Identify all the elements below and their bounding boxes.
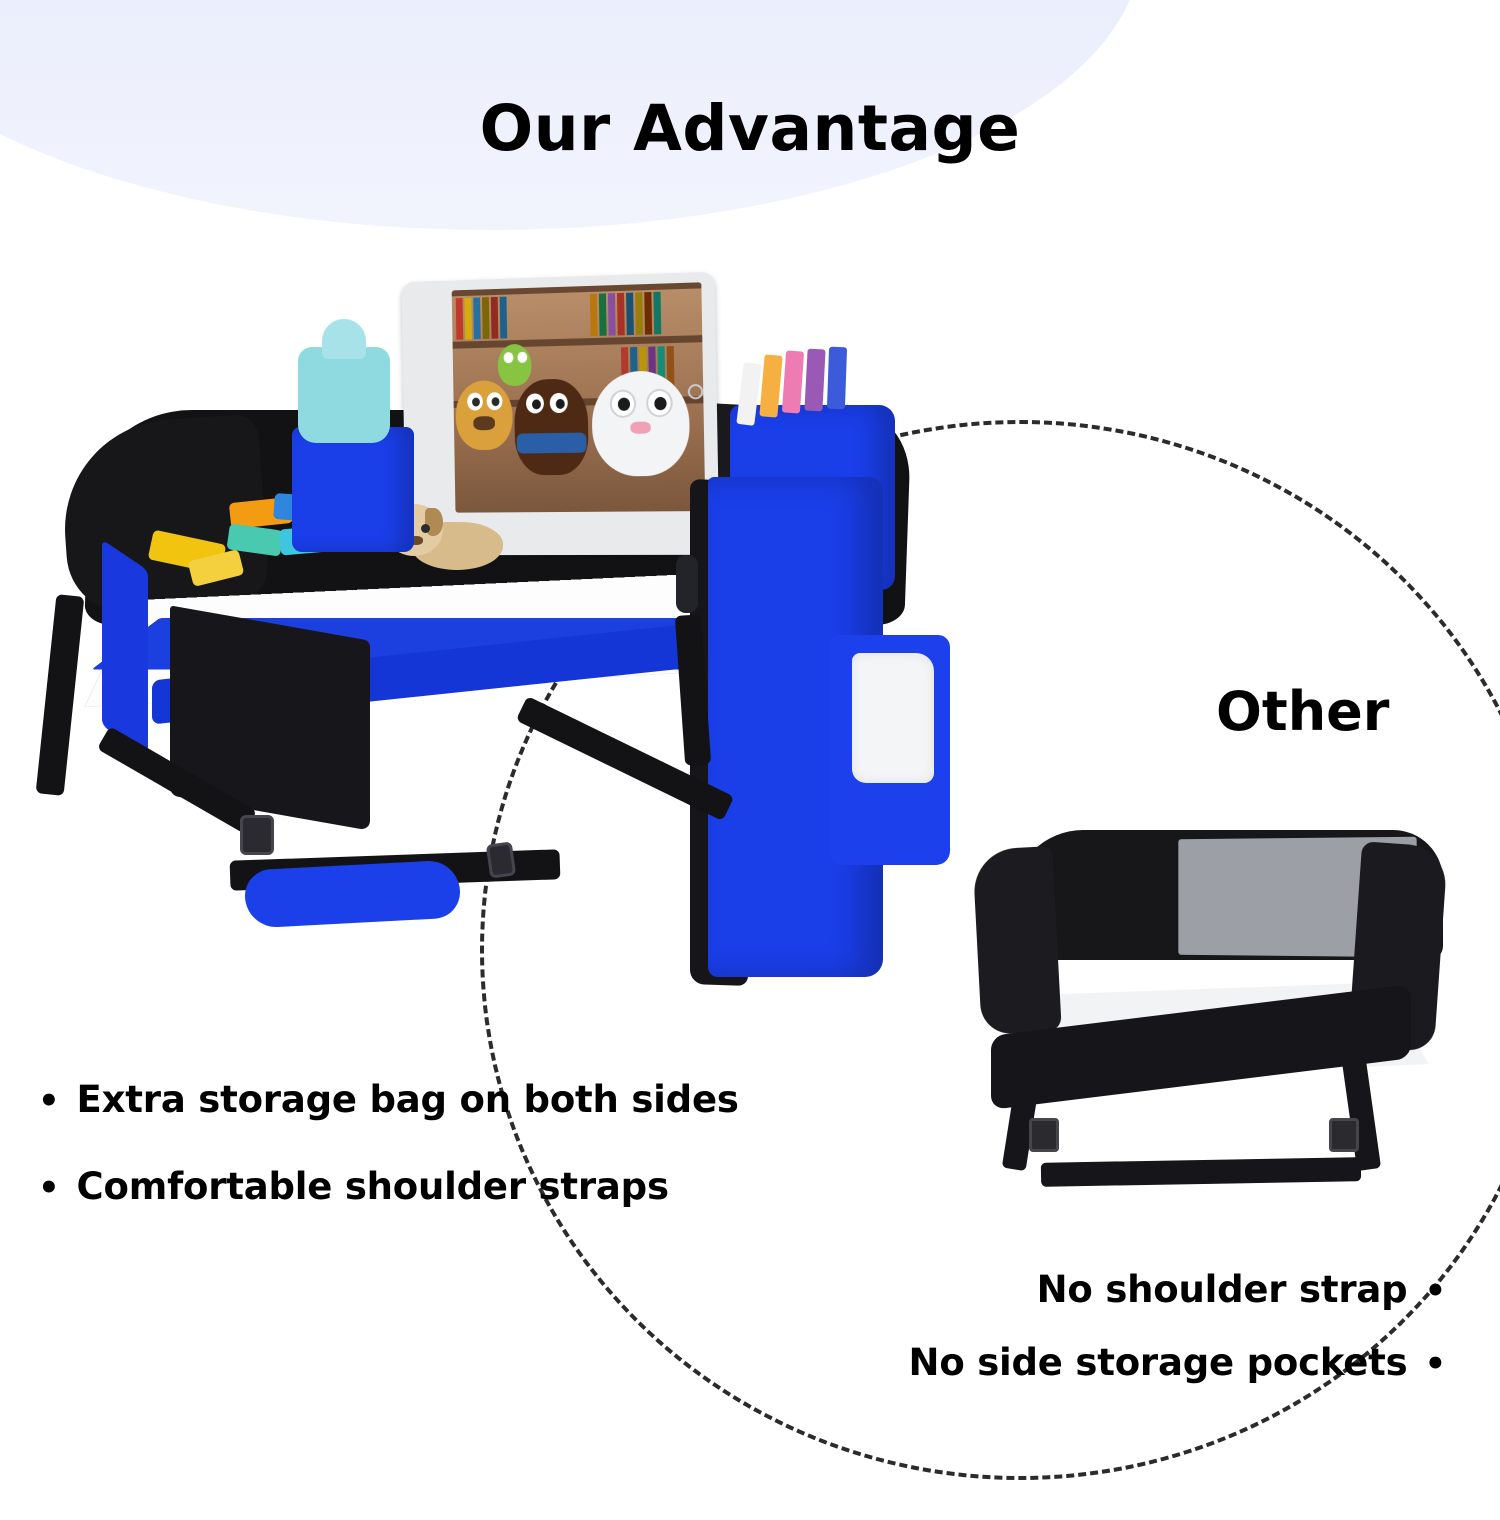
list-item: No side storage pockets •	[909, 1341, 1446, 1384]
other-section-title: Other	[1216, 680, 1389, 743]
advantage-product-image: HEY ☆✧	[40, 255, 1000, 1015]
bullet-dot-icon: •	[1424, 1274, 1446, 1308]
page-title: Our Advantage	[0, 92, 1500, 165]
list-item-label: No side storage pockets	[909, 1341, 1408, 1384]
list-item: • Extra storage bag on both sides	[38, 1078, 739, 1121]
bullet-dot-icon: •	[1424, 1347, 1446, 1381]
list-item-label: Comfortable shoulder straps	[77, 1165, 669, 1208]
marker-purple	[804, 349, 825, 412]
list-item-label: No shoulder strap	[1037, 1268, 1408, 1311]
marker-blue	[827, 347, 847, 410]
tissue-paper	[852, 653, 934, 783]
list-item-label: Extra storage bag on both sides	[77, 1078, 739, 1121]
strap-buckle-left	[240, 815, 274, 855]
other-buckle-right	[1329, 1118, 1359, 1152]
other-buckle-left	[1029, 1118, 1059, 1152]
other-drawback-list: No shoulder strap • No side storage pock…	[909, 1268, 1446, 1414]
other-product-image	[955, 800, 1475, 1320]
shoulder-pad	[244, 859, 462, 928]
advantage-list: • Extra storage bag on both sides • Comf…	[38, 1078, 739, 1252]
other-left-wall	[972, 846, 1062, 1035]
tablet-screen	[452, 282, 706, 512]
strap-buckle-right	[486, 841, 516, 878]
clip-hook	[676, 555, 698, 613]
sippy-cup	[292, 313, 396, 443]
strap-left-upper	[36, 594, 85, 796]
cup-holder-pocket	[292, 427, 414, 552]
list-item: No shoulder strap •	[909, 1268, 1446, 1311]
bullet-dot-icon: •	[38, 1171, 60, 1205]
list-item: • Comfortable shoulder straps	[38, 1165, 739, 1208]
other-strap-bottom	[1041, 1157, 1361, 1187]
bullet-dot-icon: •	[38, 1084, 60, 1118]
other-strap-right	[1341, 1051, 1381, 1171]
tray-left-rim	[102, 539, 148, 756]
